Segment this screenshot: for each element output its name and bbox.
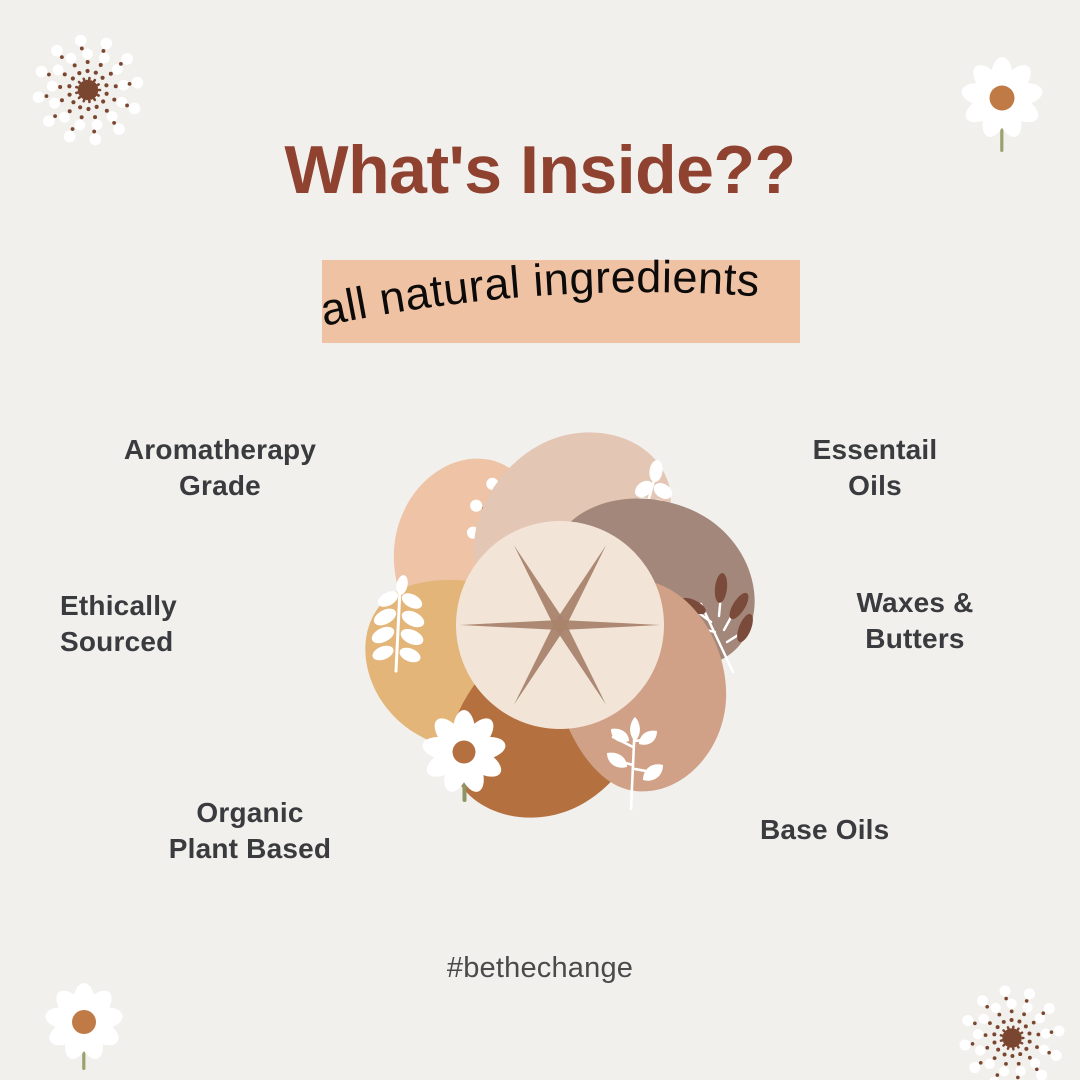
label-essential-oils: Essentail Oils: [730, 432, 1020, 505]
label-aromatherapy-grade: Aromatherapy Grade: [60, 432, 380, 505]
label-line-1: Ethically: [60, 590, 177, 621]
hashtag-footer: #bethechange: [0, 952, 1080, 985]
poster-canvas: What's Inside?? all natural ingredients: [0, 0, 1080, 1080]
daisy-flower-icon: [34, 976, 154, 1080]
dandelion-burst-icon: [952, 980, 1072, 1080]
label-base-oils: Base Oils: [760, 812, 1020, 848]
subtitle-band: [322, 260, 800, 343]
label-line-1: Waxes &: [856, 587, 973, 618]
label-line-1: Aromatherapy: [124, 434, 316, 465]
label-line-2: Oils: [848, 470, 902, 501]
label-organic-plant-based: Organic Plant Based: [90, 795, 410, 868]
label-line-1: Essentail: [813, 434, 938, 465]
label-line-1: Base Oils: [760, 814, 889, 845]
label-line-1: Organic: [196, 797, 303, 828]
label-line-2: Butters: [865, 623, 964, 654]
label-waxes-butters: Waxes & Butters: [790, 585, 1040, 658]
label-line-2: Plant Based: [169, 833, 331, 864]
flower-center[interactable]: [456, 521, 664, 729]
label-line-2: Sourced: [60, 626, 173, 657]
label-line-2: Grade: [179, 470, 261, 501]
label-ethically-sourced: Ethically Sourced: [60, 588, 350, 661]
page-title: What's Inside??: [0, 131, 1080, 209]
